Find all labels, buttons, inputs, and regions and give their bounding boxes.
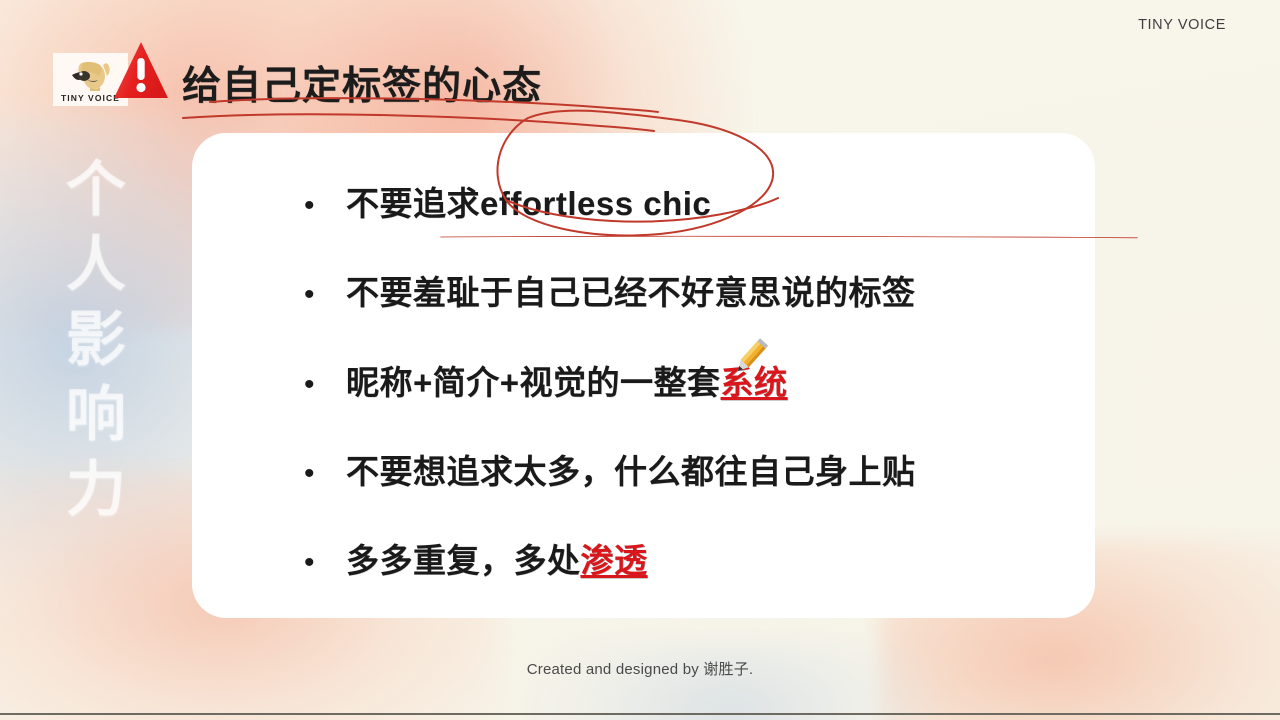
bullet-text: 多多重复，多处渗透 — [346, 534, 648, 582]
footer-credit: Created and designed by 谢胜子. — [0, 658, 1280, 679]
bullet-text: 昵称+简介+视觉的一整套系统 — [346, 356, 788, 404]
bullet-marker: • — [304, 370, 346, 400]
watermark-char: 力 — [66, 458, 126, 521]
dog-mascot-icon — [68, 59, 114, 92]
bullet-underline-annotation — [439, 235, 1139, 239]
watermark-char: 影 — [66, 308, 126, 371]
bullet-list: • 不要追求effortless chic • 不要羞耻于自己已经不好意思说的标… — [192, 133, 1095, 618]
list-item: • 不要想追求太多，什么都往自己身上贴 — [304, 445, 1055, 493]
title-underline-annotation — [180, 92, 700, 138]
content-card: • 不要追求effortless chic • 不要羞耻于自己已经不好意思说的标… — [192, 133, 1095, 618]
bullet-marker: • — [304, 191, 346, 221]
list-item: • 不要追求effortless chic — [304, 177, 1055, 225]
brand-label-topright: TINY VOICE — [1138, 17, 1226, 33]
watermark-char: 响 — [66, 383, 126, 446]
warning-triangle-icon — [112, 40, 170, 102]
bullet-marker: • — [304, 459, 346, 489]
bullet-text-highlight: 系统 — [721, 364, 788, 401]
bullet-text: 不要想追求太多，什么都往自己身上贴 — [346, 445, 916, 493]
bullet-text-plain: 多多重复，多处 — [346, 542, 581, 579]
bullet-text-plain: 昵称+简介+视觉的一整套 — [346, 364, 721, 401]
list-item: • 多多重复，多处渗透 — [304, 534, 1055, 582]
bottom-divider — [0, 713, 1280, 715]
bullet-marker: • — [304, 548, 346, 578]
list-item: • 昵称+简介+视觉的一整套系统 — [304, 356, 1055, 404]
bullet-text-highlight: 渗透 — [581, 542, 648, 579]
watermark-char: 人 — [66, 233, 126, 296]
bullet-marker: • — [304, 280, 346, 310]
list-item: • 不要羞耻于自己已经不好意思说的标签 — [304, 266, 1055, 314]
watermark-char: 个 — [66, 158, 126, 221]
slide-canvas: 个 人 影 响 力 TINY VOICE TINY VOICE — [0, 0, 1280, 720]
vertical-watermark: 个 人 影 响 力 — [50, 158, 142, 521]
bullet-text: 不要羞耻于自己已经不好意思说的标签 — [346, 266, 916, 314]
gradient-blob-bottom-blue — [520, 640, 940, 720]
bullet-text: 不要追求effortless chic — [346, 177, 711, 225]
